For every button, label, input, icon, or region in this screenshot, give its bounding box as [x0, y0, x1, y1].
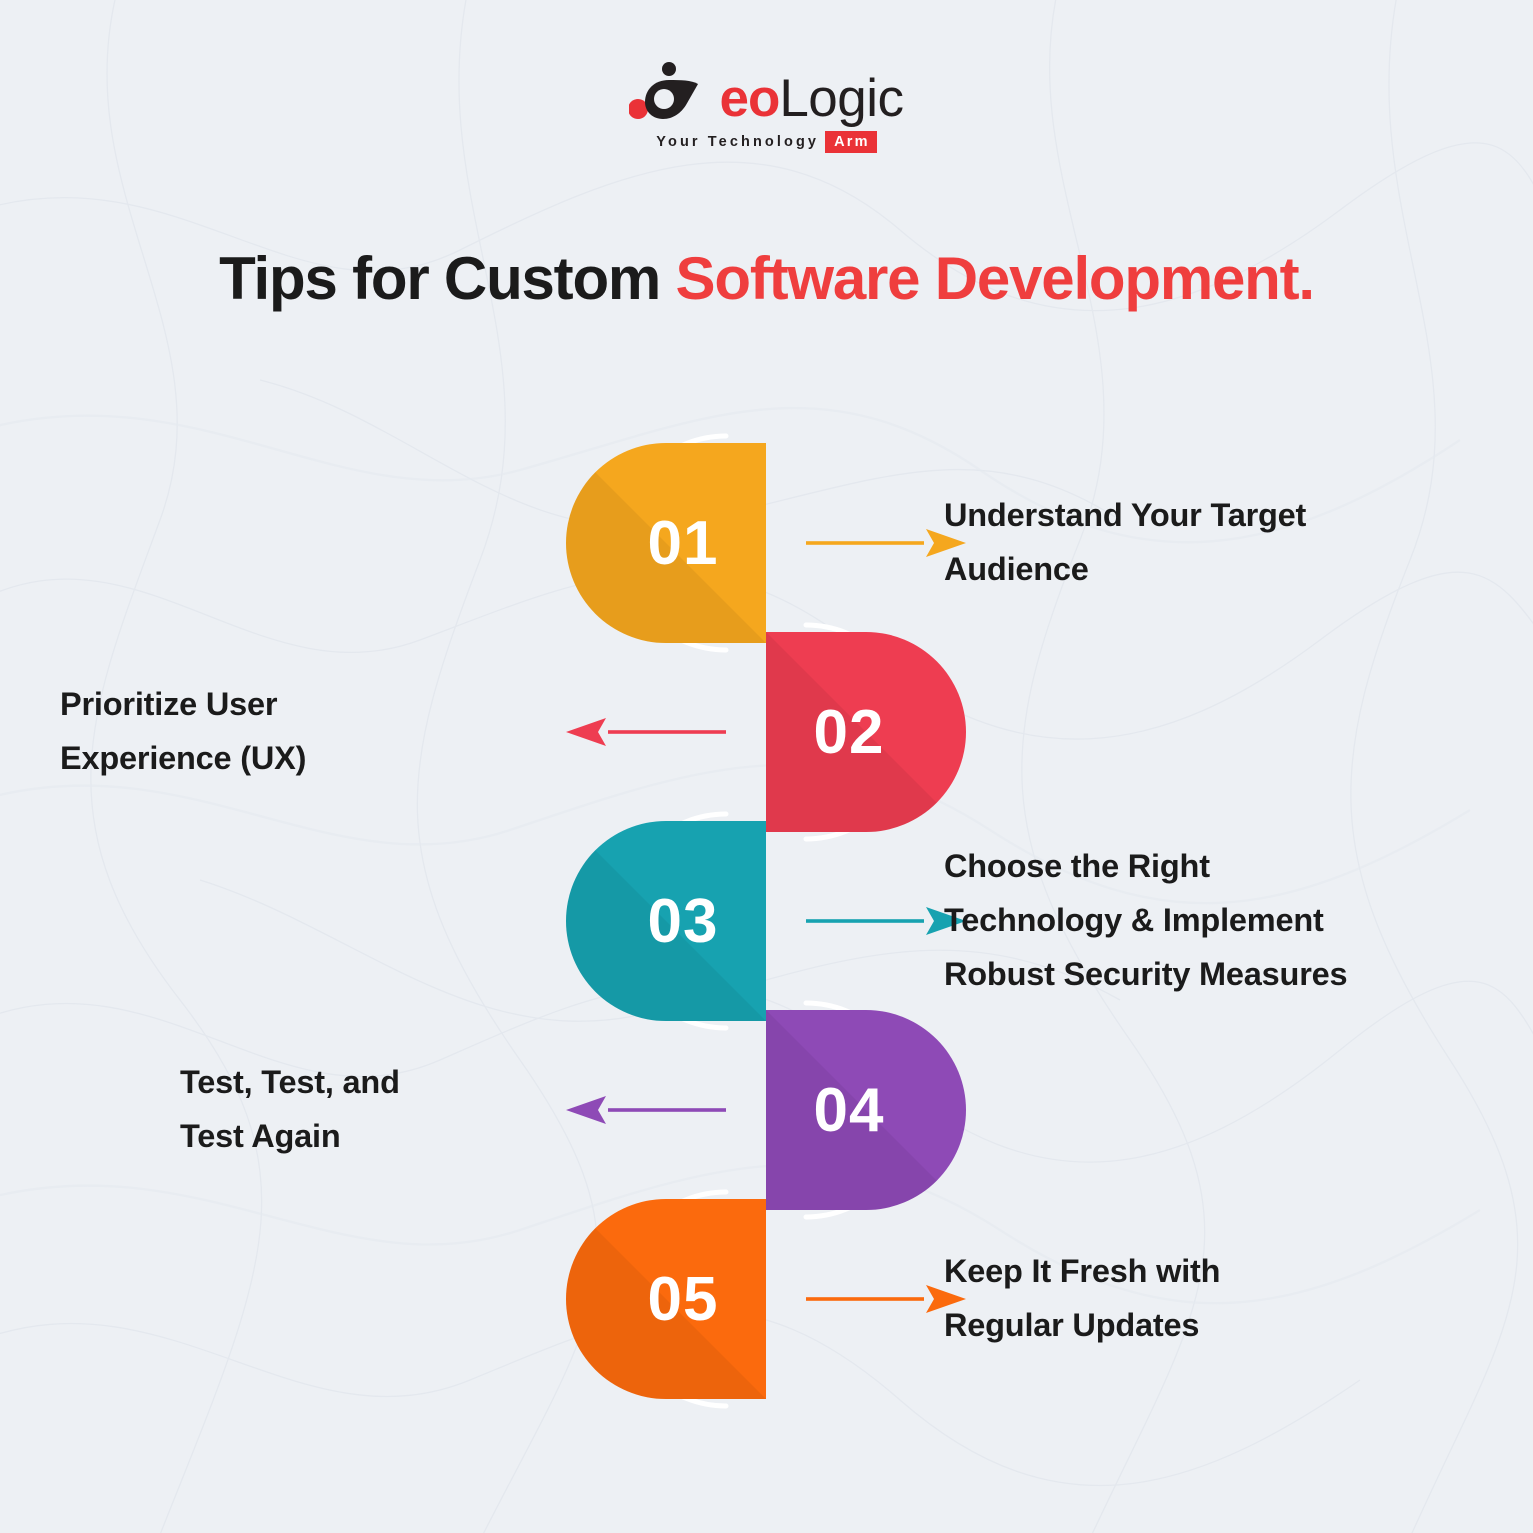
connector-arrow-left [566, 710, 726, 754]
aeologic-person-mark-icon [629, 62, 721, 124]
connector-arrow-right [806, 521, 966, 565]
logo-text-logic: Logic [779, 75, 903, 124]
step-label-line: Choose the Right [944, 840, 1210, 894]
step-label-line: Technology & Implement [944, 894, 1324, 948]
step-label-line: Understand Your Target [944, 489, 1306, 543]
step-label-03: Choose the RightTechnology & ImplementRo… [944, 821, 1464, 1021]
logo-tagline-text: Your Technology [656, 134, 819, 150]
page-title: Tips for Custom Software Development. [0, 246, 1533, 312]
step-label-line: Experience (UX) [60, 732, 306, 786]
step-number: 05 [648, 1264, 719, 1335]
page-title-accent: Software Development. [676, 245, 1314, 312]
step-capsule-03[interactable]: 03 [566, 821, 766, 1021]
page-title-lead: Tips for Custom [219, 245, 675, 312]
step-label-line: Audience [944, 543, 1089, 597]
step-row: 01Understand Your TargetAudience [0, 443, 1533, 643]
step-capsule-05[interactable]: 05 [566, 1199, 766, 1399]
logo-text-eo: eo [719, 75, 779, 124]
connector-arrow-left [566, 1088, 726, 1132]
steps-flow: 01Understand Your TargetAudience02Priori… [0, 0, 1533, 1533]
step-label-line: Test, Test, and [180, 1056, 400, 1110]
step-row: 03Choose the RightTechnology & Implement… [0, 821, 1533, 1021]
step-number: 01 [648, 508, 719, 579]
connector-arrow-right [806, 899, 966, 943]
step-number: 03 [648, 886, 719, 957]
step-label-line: Prioritize User [60, 678, 277, 732]
step-label-line: Robust Security Measures [944, 948, 1347, 1002]
step-label-04: Test, Test, andTest Again [180, 1010, 560, 1210]
logo-tagline: Your Technology Arm [656, 131, 876, 153]
logo-tagline-badge: Arm [825, 131, 877, 153]
step-label-line: Test Again [180, 1110, 341, 1164]
step-label-01: Understand Your TargetAudience [944, 443, 1464, 643]
step-label-line: Regular Updates [944, 1299, 1199, 1353]
logo-wordmark: eo Logic [629, 62, 903, 124]
step-number: 02 [814, 697, 885, 768]
step-label-line: Keep It Fresh with [944, 1245, 1220, 1299]
step-row: 04Test, Test, andTest Again [0, 1010, 1533, 1210]
step-row: 05Keep It Fresh withRegular Updates [0, 1199, 1533, 1399]
step-row: 02Prioritize UserExperience (UX) [0, 632, 1533, 832]
connector-arrow-right [806, 1277, 966, 1321]
step-number: 04 [814, 1075, 885, 1146]
step-label-05: Keep It Fresh withRegular Updates [944, 1199, 1464, 1399]
step-capsule-02[interactable]: 02 [766, 632, 966, 832]
step-label-02: Prioritize UserExperience (UX) [60, 632, 560, 832]
brand-logo: eo Logic Your Technology Arm [0, 52, 1533, 162]
step-capsule-04[interactable]: 04 [766, 1010, 966, 1210]
step-capsule-01[interactable]: 01 [566, 443, 766, 643]
